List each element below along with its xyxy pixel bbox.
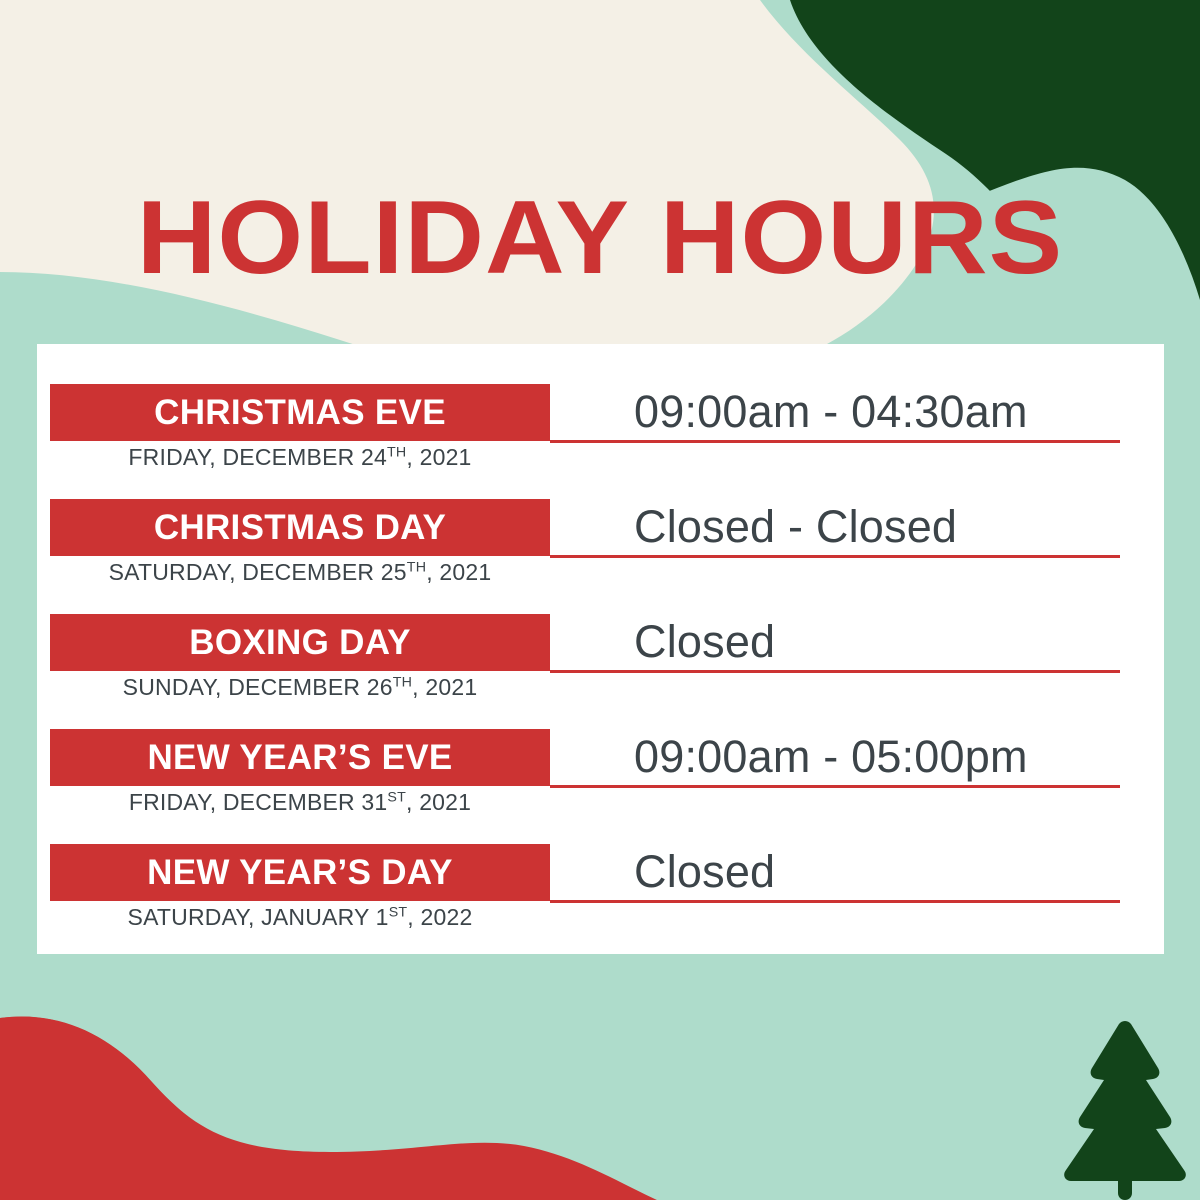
table-row: CHRISTMAS EVE 09:00am - 04:30am FRIDAY, … [37, 344, 1164, 459]
holiday-label: CHRISTMAS EVE [154, 395, 446, 430]
table-row: BOXING DAY Closed SUNDAY, DECEMBER 26TH,… [37, 574, 1164, 689]
holiday-hours-value: Closed - Closed [634, 497, 957, 557]
holiday-hours-value: Closed [634, 842, 775, 902]
holiday-hours-value: Closed [634, 612, 775, 672]
holiday-date: SATURDAY, JANUARY 1ST, 2022 [50, 905, 550, 930]
holiday-label-bar: NEW YEAR’S EVE [50, 729, 550, 786]
table-row: NEW YEAR’S EVE 09:00am - 05:00pm FRIDAY,… [37, 689, 1164, 804]
holiday-label-bar: CHRISTMAS EVE [50, 384, 550, 441]
holiday-label: BOXING DAY [189, 625, 410, 660]
hours-card: CHRISTMAS EVE 09:00am - 04:30am FRIDAY, … [37, 344, 1164, 954]
holiday-label: CHRISTMAS DAY [154, 510, 446, 545]
date-ordinal: TH [407, 559, 426, 575]
table-row: CHRISTMAS DAY Closed - Closed SATURDAY, … [37, 459, 1164, 574]
holiday-hours-value: 09:00am - 05:00pm [634, 727, 1028, 787]
date-prefix: SATURDAY, JANUARY 1 [128, 904, 389, 930]
date-ordinal: ST [389, 904, 408, 920]
page-title: HOLIDAY HOURS [0, 186, 1200, 290]
date-ordinal: TH [387, 444, 406, 460]
holiday-hours-value: 09:00am - 04:30am [634, 382, 1028, 442]
table-row: NEW YEAR’S DAY Closed SATURDAY, JANUARY … [37, 804, 1164, 919]
holiday-label: NEW YEAR’S EVE [147, 740, 452, 775]
holiday-label-bar: BOXING DAY [50, 614, 550, 671]
holiday-label-bar: NEW YEAR’S DAY [50, 844, 550, 901]
date-ordinal: ST [387, 789, 406, 805]
holiday-label-bar: CHRISTMAS DAY [50, 499, 550, 556]
date-suffix: , 2022 [407, 904, 472, 930]
holiday-label: NEW YEAR’S DAY [147, 855, 453, 890]
date-ordinal: TH [393, 674, 412, 690]
holiday-hours-poster: HOLIDAY HOURS CHRISTMAS EVE 09:00am - 04… [0, 0, 1200, 1200]
